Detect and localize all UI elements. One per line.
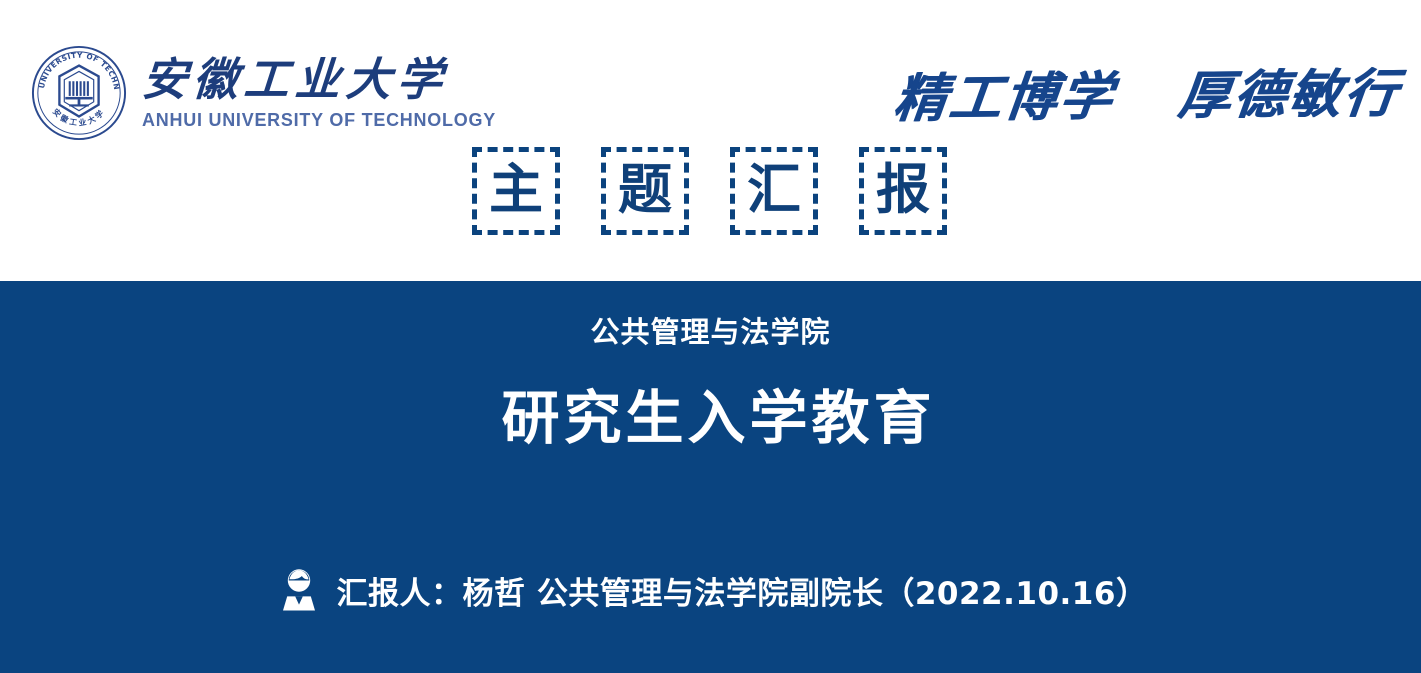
motto-part-2: 厚德敏行: [1175, 63, 1402, 126]
university-name-en: ANHUI UNIVERSITY OF TECHNOLOGY: [142, 109, 496, 131]
topic-heading-boxes: 主 题 汇 报: [472, 147, 947, 235]
presentation-slide: ANHUI UNIVERSITY OF TECHNOLOGY 安徽工业大学: [0, 0, 1421, 673]
university-logo-lockup: ANHUI UNIVERSITY OF TECHNOLOGY 安徽工业大学: [30, 44, 507, 142]
topic-box-4-char: 报: [876, 163, 930, 217]
person-avatar-icon: [274, 565, 324, 615]
university-motto: 精工博学 厚德敏行: [890, 51, 1403, 131]
university-seal-icon: ANHUI UNIVERSITY OF TECHNOLOGY 安徽工业大学: [30, 44, 128, 142]
department-name: 公共管理与法学院: [0, 309, 1421, 351]
topic-box-2-char: 题: [618, 163, 672, 217]
topic-box-1: 主: [472, 147, 560, 235]
topic-box-3: 汇: [730, 147, 818, 235]
university-name-cn: 安徽工业大学: [140, 57, 508, 103]
topic-box-3-char: 汇: [747, 163, 801, 217]
slide-body-band: 公共管理与法学院 研究生入学教育 汇报人：杨哲 公共管理与法学院副院长（2022…: [0, 281, 1421, 673]
presenter-line: 汇报人：杨哲 公共管理与法学院副院长（2022.10.16）: [0, 565, 1421, 615]
presenter-text: 汇报人：杨哲 公共管理与法学院副院长（2022.10.16）: [337, 568, 1148, 613]
slide-header-band: ANHUI UNIVERSITY OF TECHNOLOGY 安徽工业大学: [0, 0, 1421, 281]
topic-box-1-char: 主: [489, 163, 543, 217]
slide-title: 研究生入学教育: [0, 371, 1421, 455]
topic-box-2: 题: [601, 147, 689, 235]
topic-box-4: 报: [859, 147, 947, 235]
motto-part-1: 精工博学: [890, 66, 1117, 129]
university-name-block: 安徽工业大学 ANHUI UNIVERSITY OF TECHNOLOGY: [142, 55, 507, 132]
